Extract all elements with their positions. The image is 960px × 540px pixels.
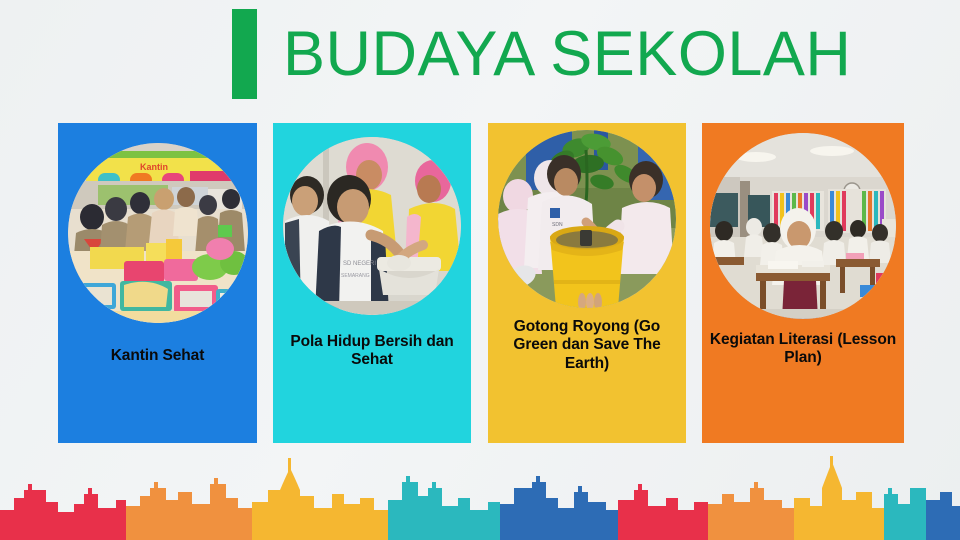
svg-text:SDN: SDN	[552, 222, 563, 228]
slide-canvas: BUDAYA SEKOLAH Kantin	[0, 0, 960, 540]
svg-text:SEMARANG: SEMARANG	[341, 273, 370, 279]
title-accent-bar	[232, 9, 257, 99]
kegiatan-literasi-photo	[710, 133, 896, 319]
card-pola-hidup-bersih[interactable]: SD NEGERI SEMARANG Pola Hidup Bersih dan…	[273, 123, 471, 443]
page-title: BUDAYA SEKOLAH	[283, 23, 851, 86]
gotong-royong-photo: SDN	[498, 130, 676, 308]
pola-hidup-bersih-photo: SD NEGERI SEMARANG	[283, 137, 461, 315]
card-label: Kantin Sehat	[105, 347, 211, 365]
svg-text:Kantin: Kantin	[140, 162, 168, 172]
card-gotong-royong[interactable]: SDN	[488, 123, 686, 443]
city-skyline-graphic	[0, 454, 960, 540]
card-label: Kegiatan Literasi (Lesson Plan)	[702, 331, 904, 368]
card-label: Gotong Royong (Go Green dan Save The Ear…	[488, 318, 686, 373]
kantin-sehat-photo: Kantin	[68, 143, 248, 323]
card-kegiatan-literasi[interactable]: Kegiatan Literasi (Lesson Plan)	[702, 123, 904, 443]
card-label: Pola Hidup Bersih dan Sehat	[273, 333, 471, 370]
card-kantin-sehat[interactable]: Kantin	[58, 123, 257, 443]
svg-text:SD NEGERI: SD NEGERI	[343, 261, 376, 267]
slide-title-block: BUDAYA SEKOLAH	[232, 8, 851, 100]
